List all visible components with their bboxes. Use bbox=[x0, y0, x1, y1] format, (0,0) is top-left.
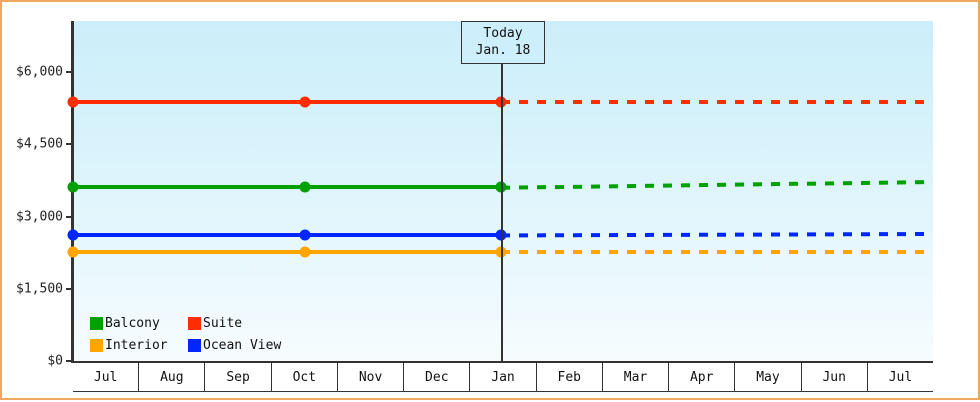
x-axis-cell: Sep bbox=[205, 363, 271, 392]
x-axis-cell: Mar bbox=[603, 363, 669, 392]
today-date: Jan. 18 bbox=[471, 42, 535, 59]
price-trend-chart: $6,000 $4,500 $3,000 $1,500 $0 Today Jan… bbox=[0, 0, 980, 400]
data-point-marker[interactable] bbox=[68, 97, 79, 108]
legend-item-interior[interactable]: Interior bbox=[90, 338, 188, 353]
data-point-marker[interactable] bbox=[299, 97, 310, 108]
legend-row: Balcony Suite bbox=[90, 312, 281, 334]
series-line-actual-interior bbox=[73, 250, 501, 254]
series-line-actual-ocean-view bbox=[73, 233, 501, 237]
today-vertical-line bbox=[501, 60, 503, 361]
legend-swatch-icon bbox=[188, 317, 201, 330]
x-axis-cell: May bbox=[735, 363, 801, 392]
y-tick-label: $4,500 bbox=[16, 137, 63, 152]
legend-swatch-icon bbox=[90, 317, 103, 330]
legend-label: Balcony bbox=[105, 316, 160, 331]
today-callout: Today Jan. 18 bbox=[461, 21, 545, 64]
series-line-actual-suite bbox=[73, 100, 501, 104]
x-axis-cell: Dec bbox=[404, 363, 470, 392]
legend-label: Interior bbox=[105, 338, 168, 353]
chart-legend: Balcony Suite Interior Ocean View bbox=[90, 312, 281, 356]
data-point-marker[interactable] bbox=[68, 247, 79, 258]
x-axis-cell: Aug bbox=[139, 363, 205, 392]
x-axis-cell: Jan bbox=[470, 363, 536, 392]
y-tick-label: $0 bbox=[47, 354, 63, 369]
today-title: Today bbox=[471, 25, 535, 42]
series-line-forecast-ocean-view bbox=[501, 228, 933, 241]
series-line-forecast-balcony bbox=[501, 176, 933, 194]
legend-label: Ocean View bbox=[203, 338, 281, 353]
data-point-marker[interactable] bbox=[299, 247, 310, 258]
legend-item-suite[interactable]: Suite bbox=[188, 316, 242, 331]
series-line-forecast-interior bbox=[501, 246, 933, 258]
data-point-marker[interactable] bbox=[299, 182, 310, 193]
legend-swatch-icon bbox=[90, 339, 103, 352]
y-tick-label: $1,500 bbox=[16, 282, 63, 297]
x-axis-labels: JulAugSepOctNovDecJanFebMarAprMayJunJul bbox=[73, 363, 933, 392]
y-tick-label: $6,000 bbox=[16, 65, 63, 80]
x-axis-cell: Jul bbox=[73, 363, 139, 392]
legend-swatch-icon bbox=[188, 339, 201, 352]
data-point-marker[interactable] bbox=[68, 230, 79, 241]
legend-label: Suite bbox=[203, 316, 242, 331]
data-point-marker[interactable] bbox=[68, 182, 79, 193]
series-line-forecast-suite bbox=[501, 96, 933, 108]
legend-item-balcony[interactable]: Balcony bbox=[90, 316, 188, 331]
x-axis-cell: Jun bbox=[802, 363, 868, 392]
legend-item-ocean-view[interactable]: Ocean View bbox=[188, 338, 281, 353]
data-point-marker[interactable] bbox=[299, 230, 310, 241]
y-axis: $6,000 $4,500 $3,000 $1,500 $0 bbox=[2, 2, 73, 402]
x-axis-cell: Feb bbox=[537, 363, 603, 392]
legend-row: Interior Ocean View bbox=[90, 334, 281, 356]
x-axis-cell: Apr bbox=[669, 363, 735, 392]
x-axis-cell: Jul bbox=[868, 363, 933, 392]
x-axis-cell: Nov bbox=[338, 363, 404, 392]
x-axis-cell: Oct bbox=[272, 363, 338, 392]
series-line-actual-balcony bbox=[73, 185, 501, 189]
y-tick-label: $3,000 bbox=[16, 210, 63, 225]
